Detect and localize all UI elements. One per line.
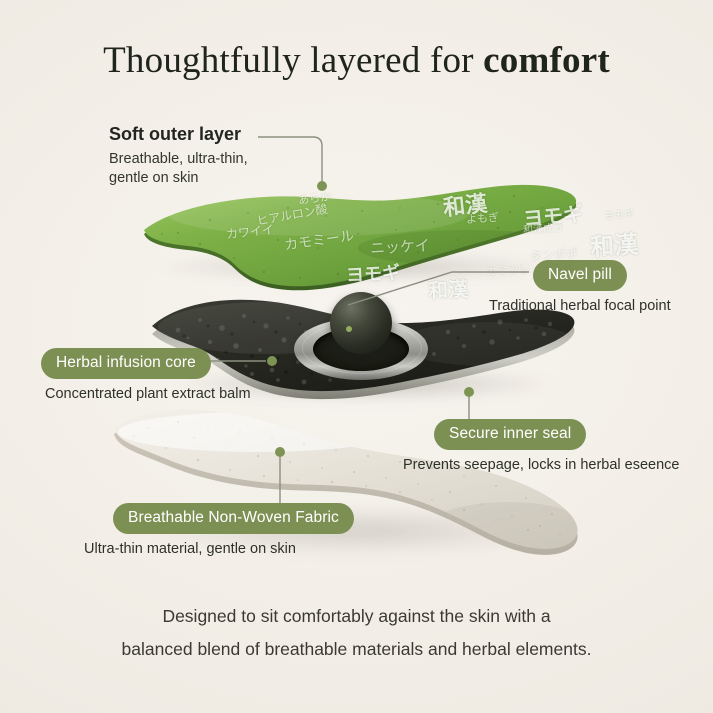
navel-pill-anchor-dot bbox=[346, 326, 352, 332]
soft-outer-layer-shape bbox=[138, 178, 578, 296]
callout-secure-inner-seal: Secure inner seal Prevents seepage, lock… bbox=[434, 419, 679, 473]
callout-non-woven-fabric: Breathable Non-Woven Fabric Ultra-thin m… bbox=[113, 503, 354, 557]
badge-navel-pill[interactable]: Navel pill bbox=[533, 260, 627, 291]
badge-secure-inner-seal[interactable]: Secure inner seal bbox=[434, 419, 586, 450]
callout-herbal-infusion-core: Herbal infusion core Concentrated plant … bbox=[41, 348, 251, 402]
caption-secure-inner-seal: Prevents seepage, locks in herbal eseenc… bbox=[403, 457, 679, 473]
callout-soft-outer-sub-line2: gentle on skin bbox=[109, 169, 248, 188]
caption-non-woven-fabric: Ultra-thin material, gentle on skin bbox=[84, 541, 354, 557]
callout-soft-outer-heading: Soft outer layer bbox=[109, 124, 248, 145]
caption-navel-pill: Traditional herbal focal point bbox=[489, 298, 671, 314]
navel-pill-graphic bbox=[294, 292, 428, 384]
callout-soft-outer-sub: Breathable, ultra-thin, gentle on skin bbox=[109, 150, 248, 188]
soft-outer-layer-graphic: あらかヒアルロン酸和漢ヨモギよもぎ和漢成分カワイイカモミールニッケイ和漢ヨモギタ… bbox=[138, 178, 578, 296]
callout-soft-outer-layer: Soft outer layer Breathable, ultra-thin,… bbox=[109, 124, 248, 188]
print-mark: 和漢 bbox=[589, 224, 639, 262]
caption-herbal-infusion-core: Concentrated plant extract balm bbox=[45, 386, 251, 402]
product-layer-infographic: Thoughtfully layered for comfort bbox=[0, 0, 713, 713]
footer-line2: balanced blend of breathable materials a… bbox=[0, 633, 713, 666]
footer-description: Designed to sit comfortably against the … bbox=[0, 600, 713, 666]
callout-navel-pill: Navel pill Traditional herbal focal poin… bbox=[533, 260, 671, 314]
navel-pill-sphere bbox=[330, 292, 392, 354]
footer-line1: Designed to sit comfortably against the … bbox=[0, 600, 713, 633]
print-mark: ヨモギ bbox=[603, 204, 634, 222]
badge-non-woven-fabric[interactable]: Breathable Non-Woven Fabric bbox=[113, 503, 354, 534]
badge-herbal-infusion-core[interactable]: Herbal infusion core bbox=[41, 348, 211, 379]
callout-soft-outer-sub-line1: Breathable, ultra-thin, bbox=[109, 150, 248, 169]
